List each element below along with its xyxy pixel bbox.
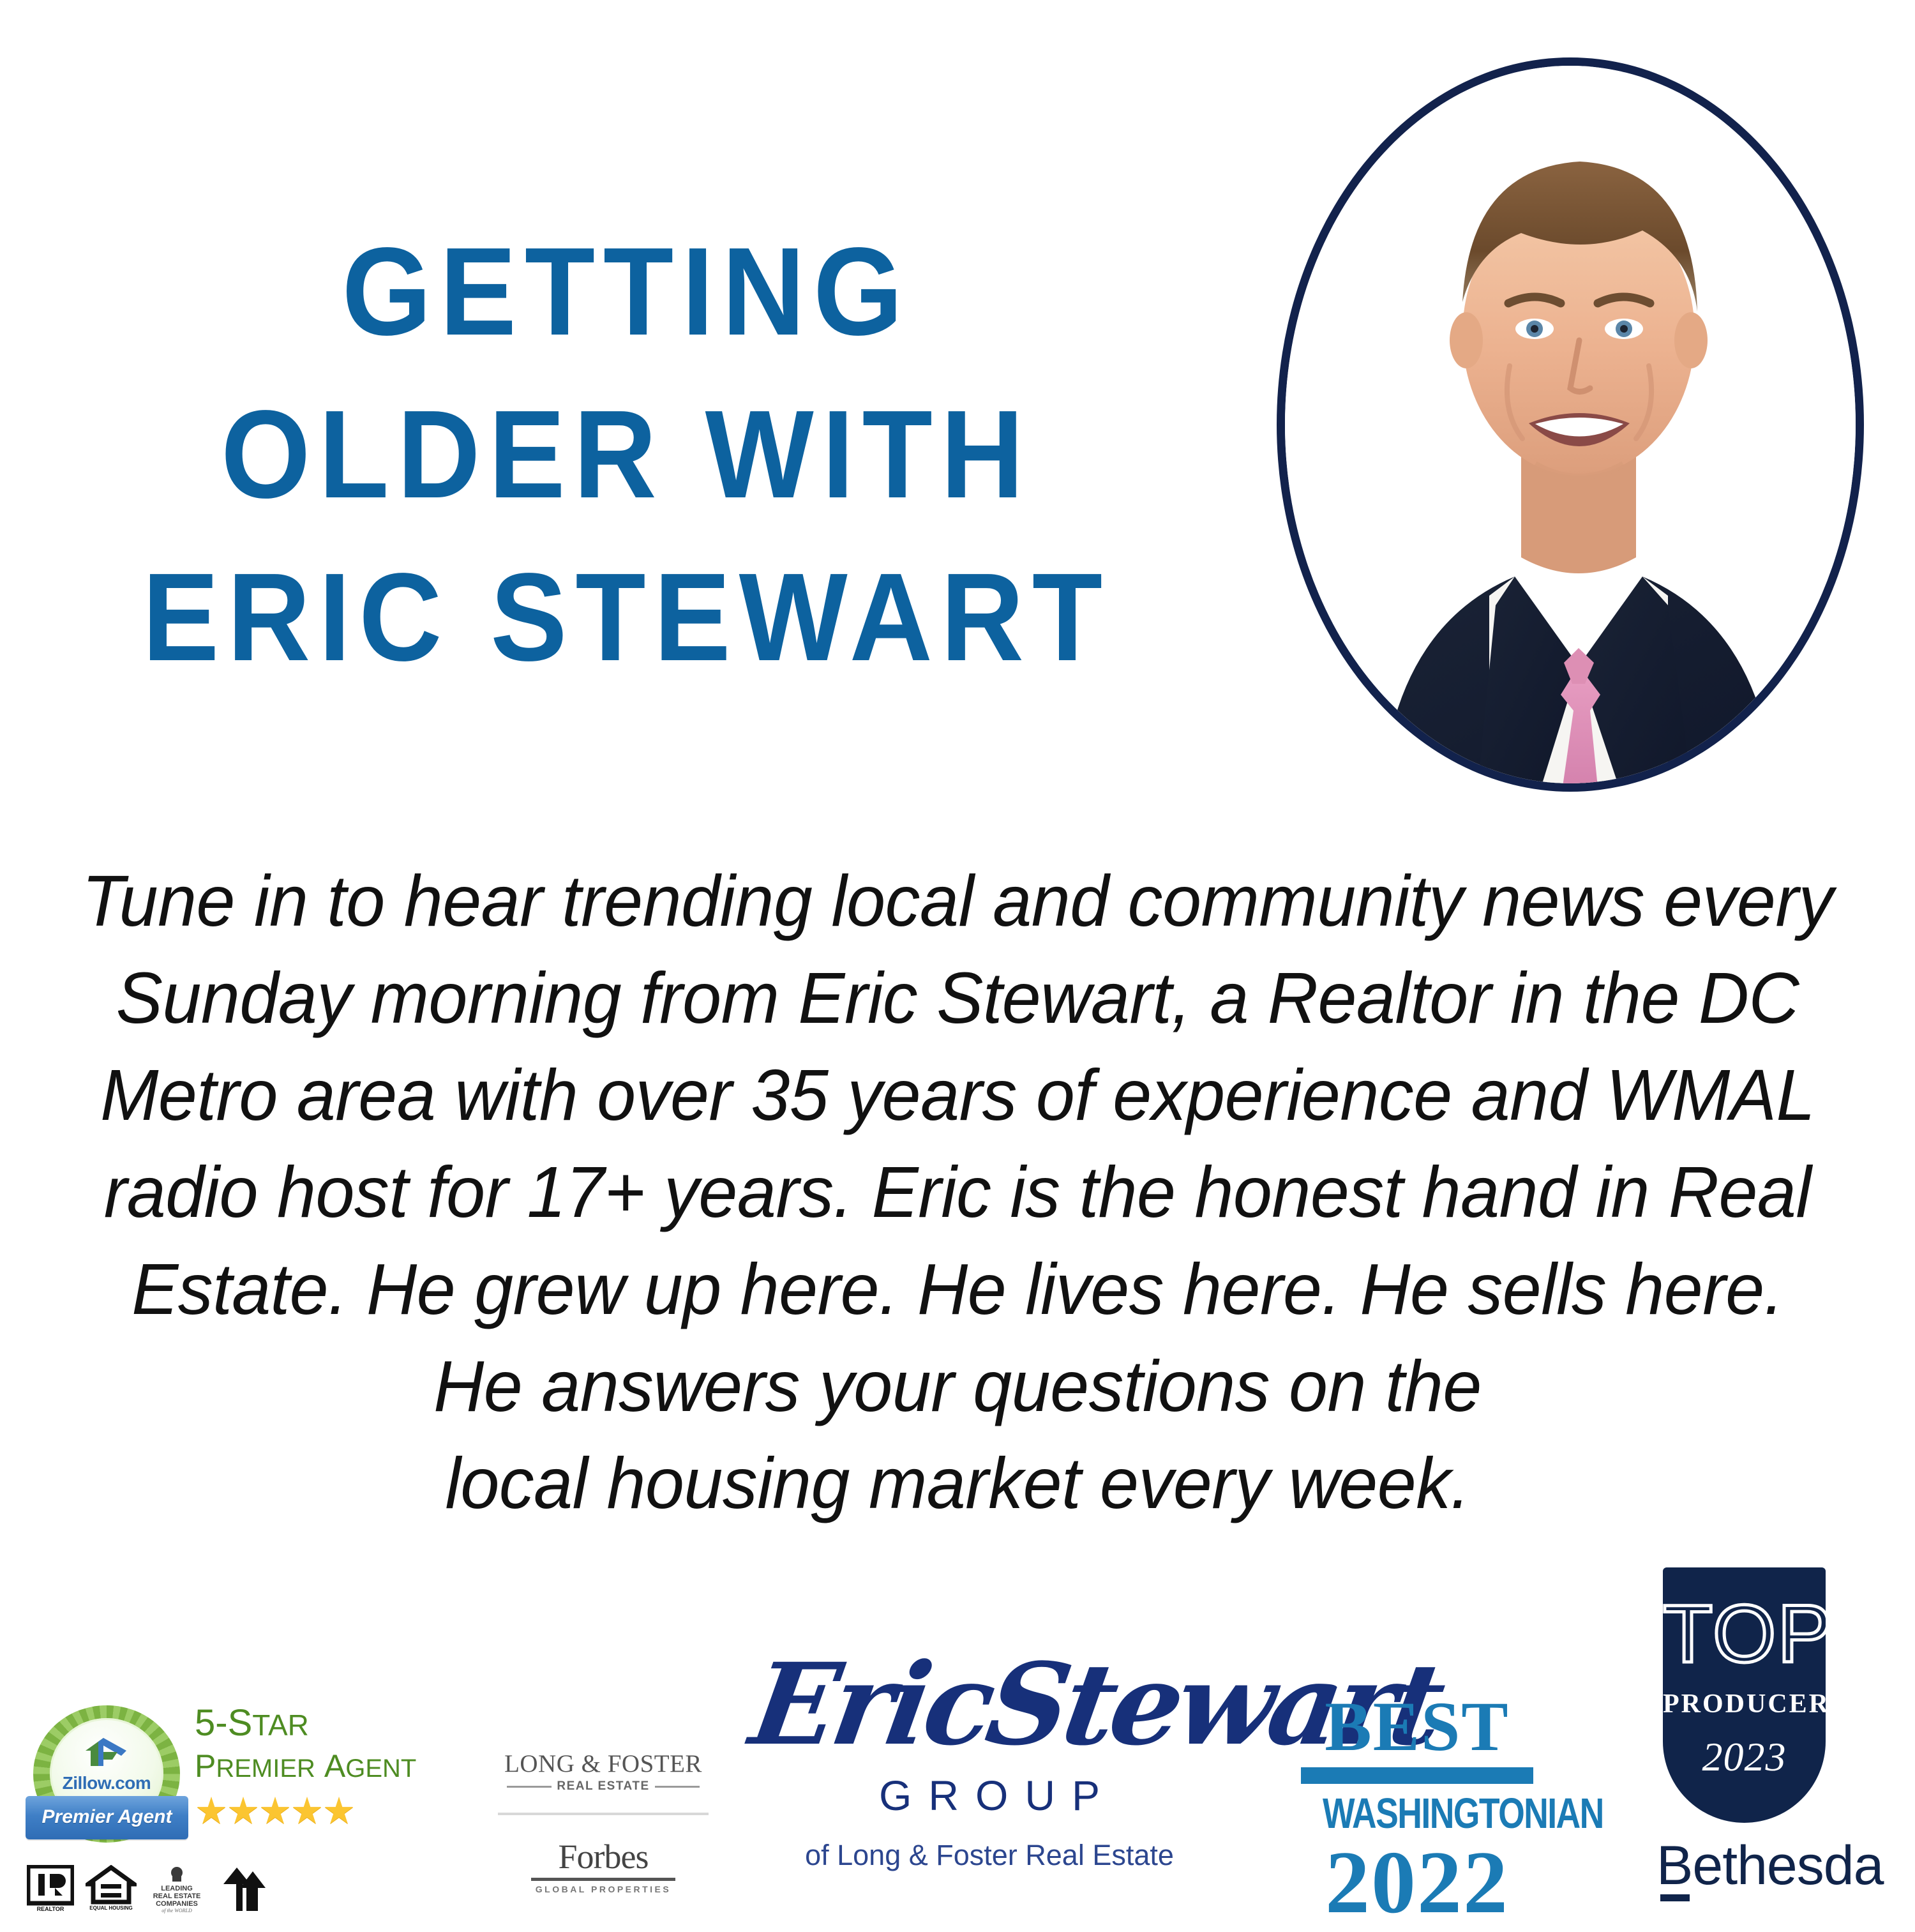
svg-text:REALTOR: REALTOR [37,1906,64,1912]
equal-housing-opportunity-icon: EQUAL HOUSING [86,1865,137,1913]
premier-agent-ribbon: Premier Agent [26,1796,188,1839]
title-line-1: GETTING [85,211,1160,374]
premier-rest: REMIER [216,1755,315,1783]
portrait [1277,57,1864,792]
bethesda-underline [1660,1894,1690,1901]
top-label: TOP [1663,1597,1826,1672]
svg-text:LEADING: LEADING [161,1885,193,1892]
description-line: Metro area with over 35 years of experie… [60,1046,1856,1143]
description-line: Tune in to hear trending local and commu… [60,852,1856,949]
zillow-rating-text: 5-STAR PREMIER AGENT ★★★★★ [195,1703,437,1830]
star-rating-icon: ★★★★★ [195,1793,437,1830]
zillow-wordmark: Zillow.com [50,1773,163,1793]
luxury-portfolio-icon [217,1865,266,1913]
five-star-lead: 5-S [195,1702,252,1744]
svg-text:EQUAL HOUSING: EQUAL HOUSING [89,1905,132,1911]
group-tagline: of Long & Foster Real Estate [753,1839,1226,1872]
top-producer-year: 2023 [1663,1733,1826,1781]
zillow-premier-agent-logo: Zillow.com Premier Agent 5-STAR PREMIER … [19,1695,440,1912]
premier-agent-ribbon-label: Premier Agent [26,1806,188,1828]
realtor-icon: REALTOR [27,1865,74,1913]
portrait-ring [1277,57,1864,792]
association-icons: REALTOR EQUAL HOUSING LEADING REAL ESTAT… [27,1862,295,1913]
forbes-sub-label: GLOBAL PROPERTIES [482,1884,725,1894]
best-washingtonian-badge: BEST WASHINGTONIAN 2022 [1299,1692,1535,1925]
premier-lead: P [195,1748,216,1784]
zillow-house-icon [84,1737,130,1769]
description-paragraph: Tune in to hear trending local and commu… [32,852,1883,1532]
title-line-2: OLDER WITH [85,374,1160,536]
agent-lead: A [324,1748,345,1784]
svg-text:COMPANIES: COMPANIES [156,1900,198,1908]
long-foster-wordmark: LONG & FOSTER [482,1749,725,1778]
five-star-headline: 5-STAR [195,1703,437,1746]
header-section: GETTING OLDER WITH ERIC STEWART [0,0,1915,836]
rule-right [655,1786,700,1788]
rule-left [507,1786,552,1788]
description-line: He answers your questions on the [60,1338,1856,1435]
svg-text:REAL ESTATE: REAL ESTATE [153,1892,201,1900]
bethesda-wordmark: Bethesda [1656,1834,1848,1898]
page-title: GETTING OLDER WITH ERIC STEWART [38,211,1206,698]
top-producer-shield: TOP PRODUCER 2023 [1663,1567,1826,1823]
forbes-wordmark: Forbes [482,1837,725,1876]
zillow-badge-icon: Zillow.com Premier Agent [26,1702,188,1858]
producer-label: PRODUCER [1663,1689,1826,1719]
eric-stewart-group-logo: EricStewart GROUP of Long & Foster Real … [753,1641,1226,1872]
forbes-rule [531,1878,675,1881]
description-line: radio host for 17+ years. Eric is the ho… [60,1143,1856,1241]
eric-stewart-script-wordmark: EricStewart [743,1641,1236,1769]
group-wordmark: GROUP [753,1771,1226,1820]
svg-text:of the WORLD: of the WORLD [161,1908,192,1913]
logo-divider [498,1813,709,1815]
long-foster-sub-label: REAL ESTATE [557,1779,649,1793]
leading-real-estate-companies-icon: LEADING REAL ESTATE COMPANIES of the WOR… [148,1865,206,1913]
five-star-rest: TAR [252,1709,309,1742]
logo-bar: Zillow.com Premier Agent 5-STAR PREMIER … [0,1532,1915,1915]
title-line-3: ERIC STEWART [85,536,1160,699]
best-washingtonian-bar [1301,1767,1533,1784]
best-label: BEST [1299,1692,1535,1761]
description-line: Estate. He grew up here. He lives here. … [60,1241,1856,1338]
premier-agent-headline: PREMIER AGENT [195,1746,437,1789]
agent-rest: GENT [345,1755,416,1783]
description-line: Sunday morning from Eric Stewart, a Real… [60,949,1856,1046]
washingtonian-label: WASHINGTONIAN [1323,1789,1512,1838]
headshot-image [1285,66,1864,792]
long-foster-subline: REAL ESTATE [482,1779,725,1793]
washingtonian-year: 2022 [1299,1841,1535,1925]
long-and-foster-logo: LONG & FOSTER REAL ESTATE Forbes GLOBAL … [482,1749,725,1894]
description-line: local housing market every week. [60,1435,1856,1532]
